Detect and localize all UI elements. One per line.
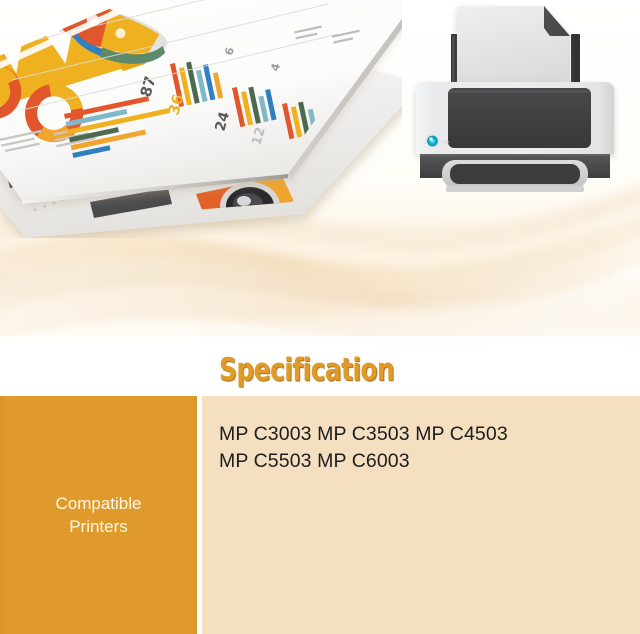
spec-row-value-cell: MP C3003 MP C3503 MP C4503 MP C5503 MP C… — [202, 396, 640, 634]
compatible-printers-label: Compatible Printers — [56, 492, 142, 538]
product-spec-banner: 87 36 24 12 6 4 — [0, 0, 640, 634]
hero-image: 87 36 24 12 6 4 — [0, 0, 640, 352]
compatible-printer-models: MP C3003 MP C3503 MP C4503 MP C5503 MP C… — [219, 423, 508, 472]
spec-row-label-cell: Compatible Printers — [0, 396, 197, 634]
section-title-specification: Specification — [219, 352, 394, 388]
printed-documents-photo: 87 36 24 12 6 4 — [0, 0, 402, 238]
printer-icon — [398, 2, 630, 202]
specification-table: Compatible Printers MP C3003 MP C3503 MP… — [0, 396, 640, 634]
